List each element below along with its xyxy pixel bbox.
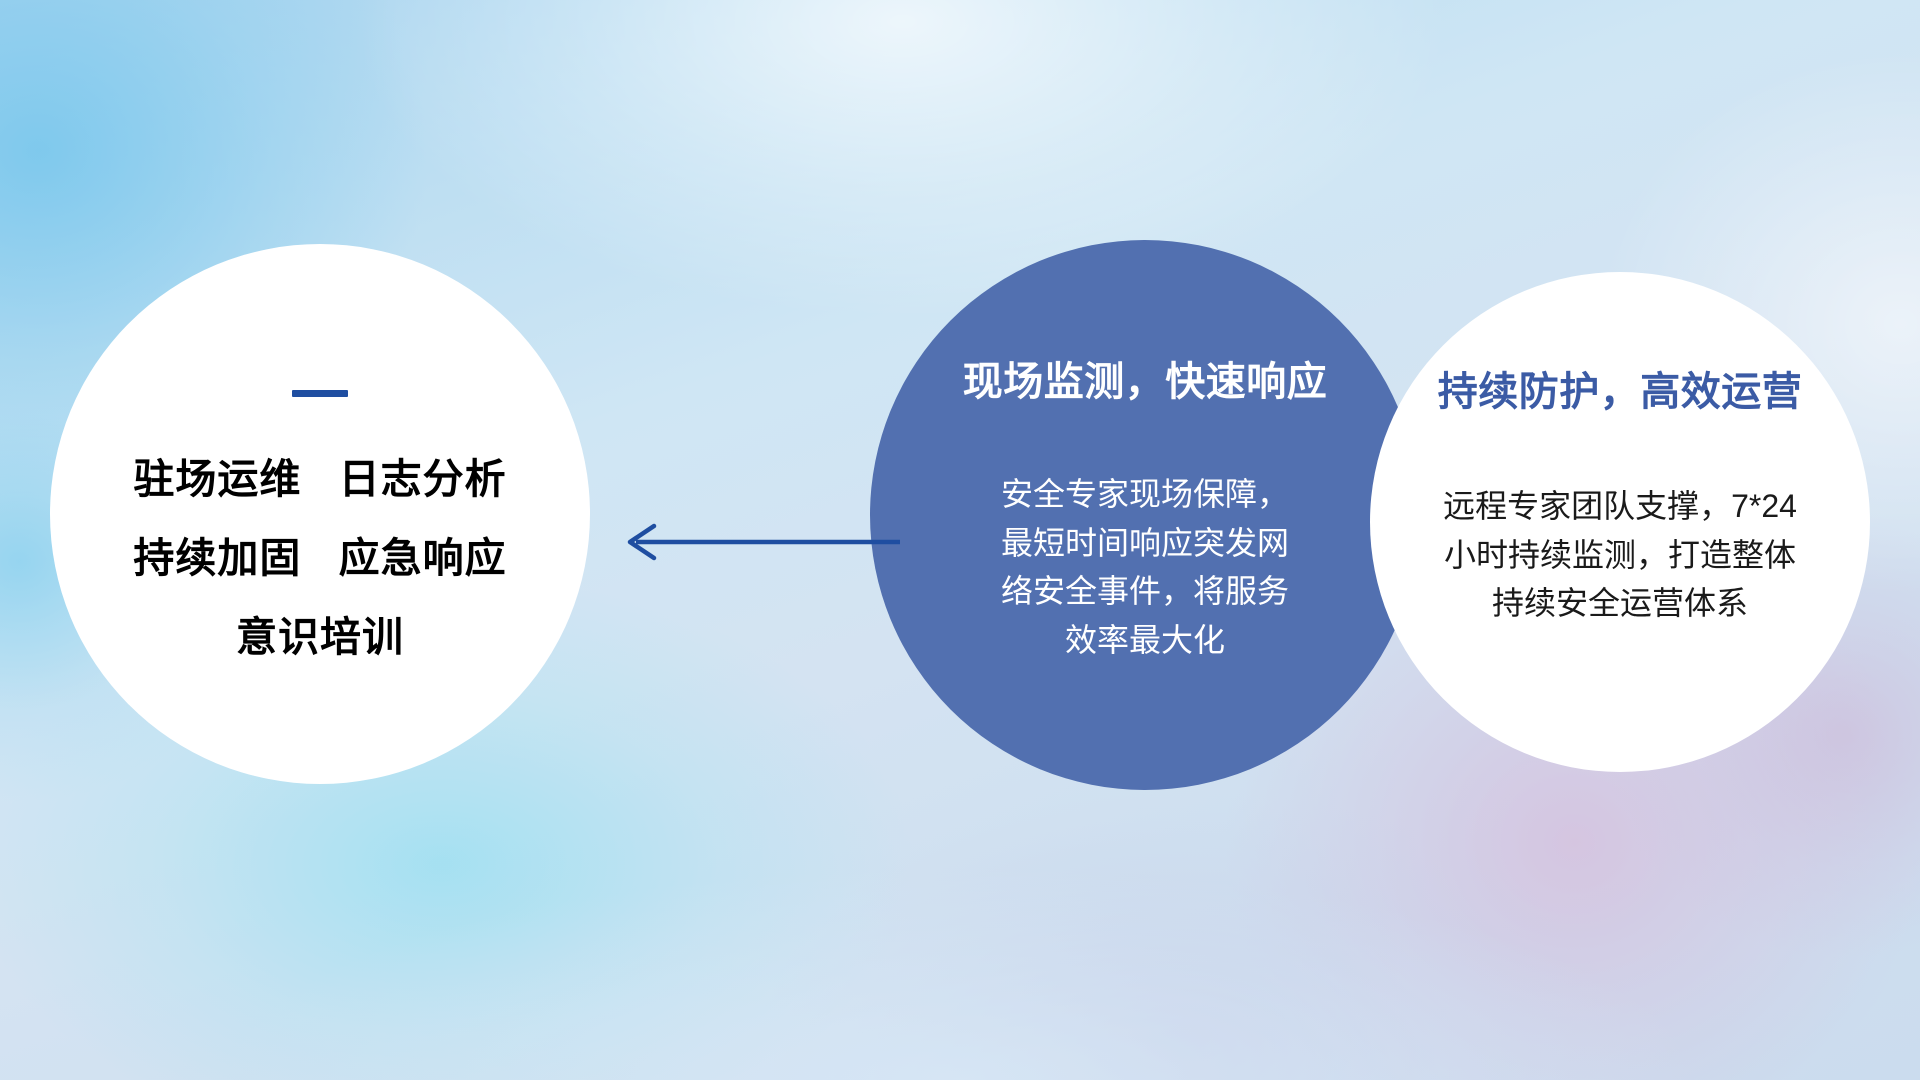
left-circle-line-1: 驻场运维 日志分析 <box>133 459 506 500</box>
right-circle-title: 持续防护，高效运营 <box>1438 370 1803 414</box>
left-arrow-icon <box>610 518 900 566</box>
center-circle-content: 现场监测，快速响应 安全专家现场保障， 最短时间响应突发网 络安全事件，将服务 … <box>870 360 1420 665</box>
left-circle-line-3: 意识培训 <box>236 617 404 658</box>
center-circle-title: 现场监测，快速响应 <box>963 360 1328 404</box>
center-circle-body-text: 安全专家现场保障， 最短时间响应突发网 络安全事件，将服务 效率最大化 <box>980 470 1310 665</box>
right-circle-card[interactable]: 持续防护，高效运营 远程专家团队支撑，7*24 小时持续监测，打造整体 持续安全… <box>1370 272 1870 772</box>
slide-canvas: 现场监测，快速响应 安全专家现场保障， 最短时间响应突发网 络安全事件，将服务 … <box>0 0 1920 1080</box>
right-circle-body-text: 远程专家团队支撑，7*24 小时持续监测，打造整体 持续安全运营体系 <box>1410 482 1830 628</box>
horizontal-dash-icon <box>292 390 348 397</box>
left-circle-content: 驻场运维 日志分析 持续加固 应急响应 意识培训 <box>50 390 590 658</box>
left-circle-line-2: 持续加固 应急响应 <box>133 538 506 579</box>
center-circle-card[interactable]: 现场监测，快速响应 安全专家现场保障， 最短时间响应突发网 络安全事件，将服务 … <box>870 240 1420 790</box>
right-circle-content: 持续防护，高效运营 远程专家团队支撑，7*24 小时持续监测，打造整体 持续安全… <box>1370 370 1870 628</box>
left-circle-card[interactable]: 驻场运维 日志分析 持续加固 应急响应 意识培训 <box>50 244 590 784</box>
